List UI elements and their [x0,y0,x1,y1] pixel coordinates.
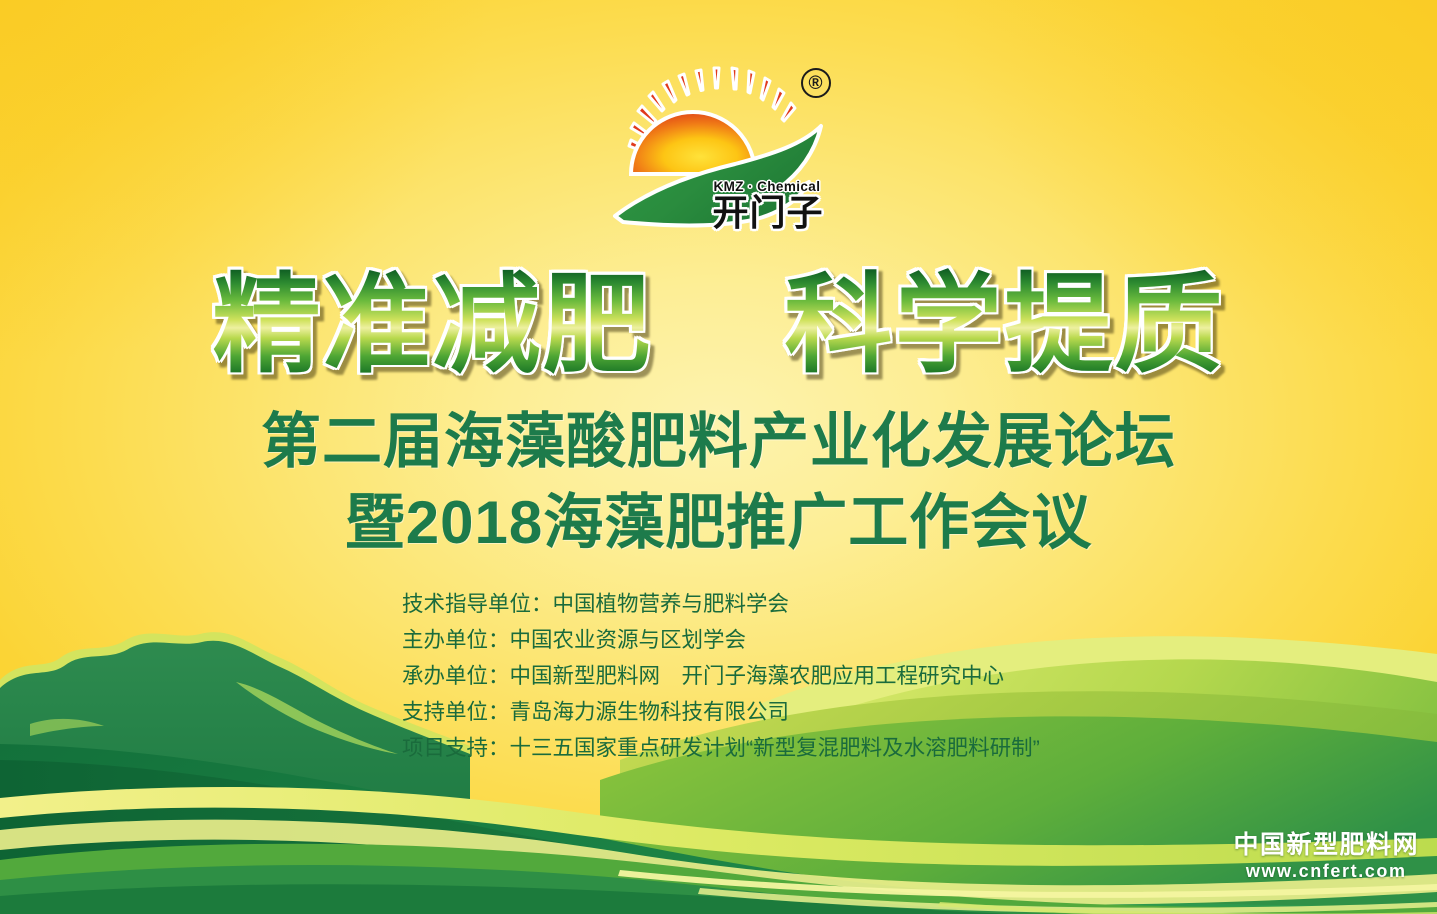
slogan-part-1: 精准减肥 [212,268,652,381]
kaimenzi-logo: ® KMZ · Chemical 开门子 [601,62,837,242]
credit-line-project-support: 项目支持：十三五国家重点研发计划“新型复混肥料及水溶肥料研制” [402,730,1040,766]
watermark-site-name: 中国新型肥料网 [1233,832,1419,860]
watermark-url: www.cnfert.com [1233,862,1419,882]
conference-title-line-2: 暨2018海藻肥推广工作会议 [0,485,1437,562]
conference-title-line-1: 第二届海藻酸肥料产业化发展论坛 [0,404,1437,481]
credit-line-supporter: 支持单位：青岛海力源生物科技有限公司 [402,694,1040,730]
logo-chinese-text: 开门子 [713,194,824,232]
conference-poster: ® KMZ · Chemical 开门子 精准减肥 科学提质 第二届海藻酸肥料产… [0,0,1437,914]
site-watermark: 中国新型肥料网 www.cnfert.com [1233,832,1419,882]
conference-title: 第二届海藻酸肥料产业化发展论坛 暨2018海藻肥推广工作会议 [0,404,1437,562]
organizer-credits: 技术指导单位：中国植物营养与肥料学会 主办单位：中国农业资源与区划学会 承办单位… [402,586,1040,767]
slogan-part-2: 科学提质 [785,268,1225,381]
registered-trademark-icon: ® [801,68,831,98]
brand-logo-area: ® KMZ · Chemical 开门子 [0,62,1437,242]
credit-line-technical-guidance: 技术指导单位：中国植物营养与肥料学会 [402,586,1040,622]
slogan: 精准减肥 科学提质 [0,268,1437,381]
credit-line-organizer: 承办单位：中国新型肥料网 开门子海藻农肥应用工程研究中心 [402,658,1040,694]
credit-line-host: 主办单位：中国农业资源与区划学会 [402,622,1040,658]
